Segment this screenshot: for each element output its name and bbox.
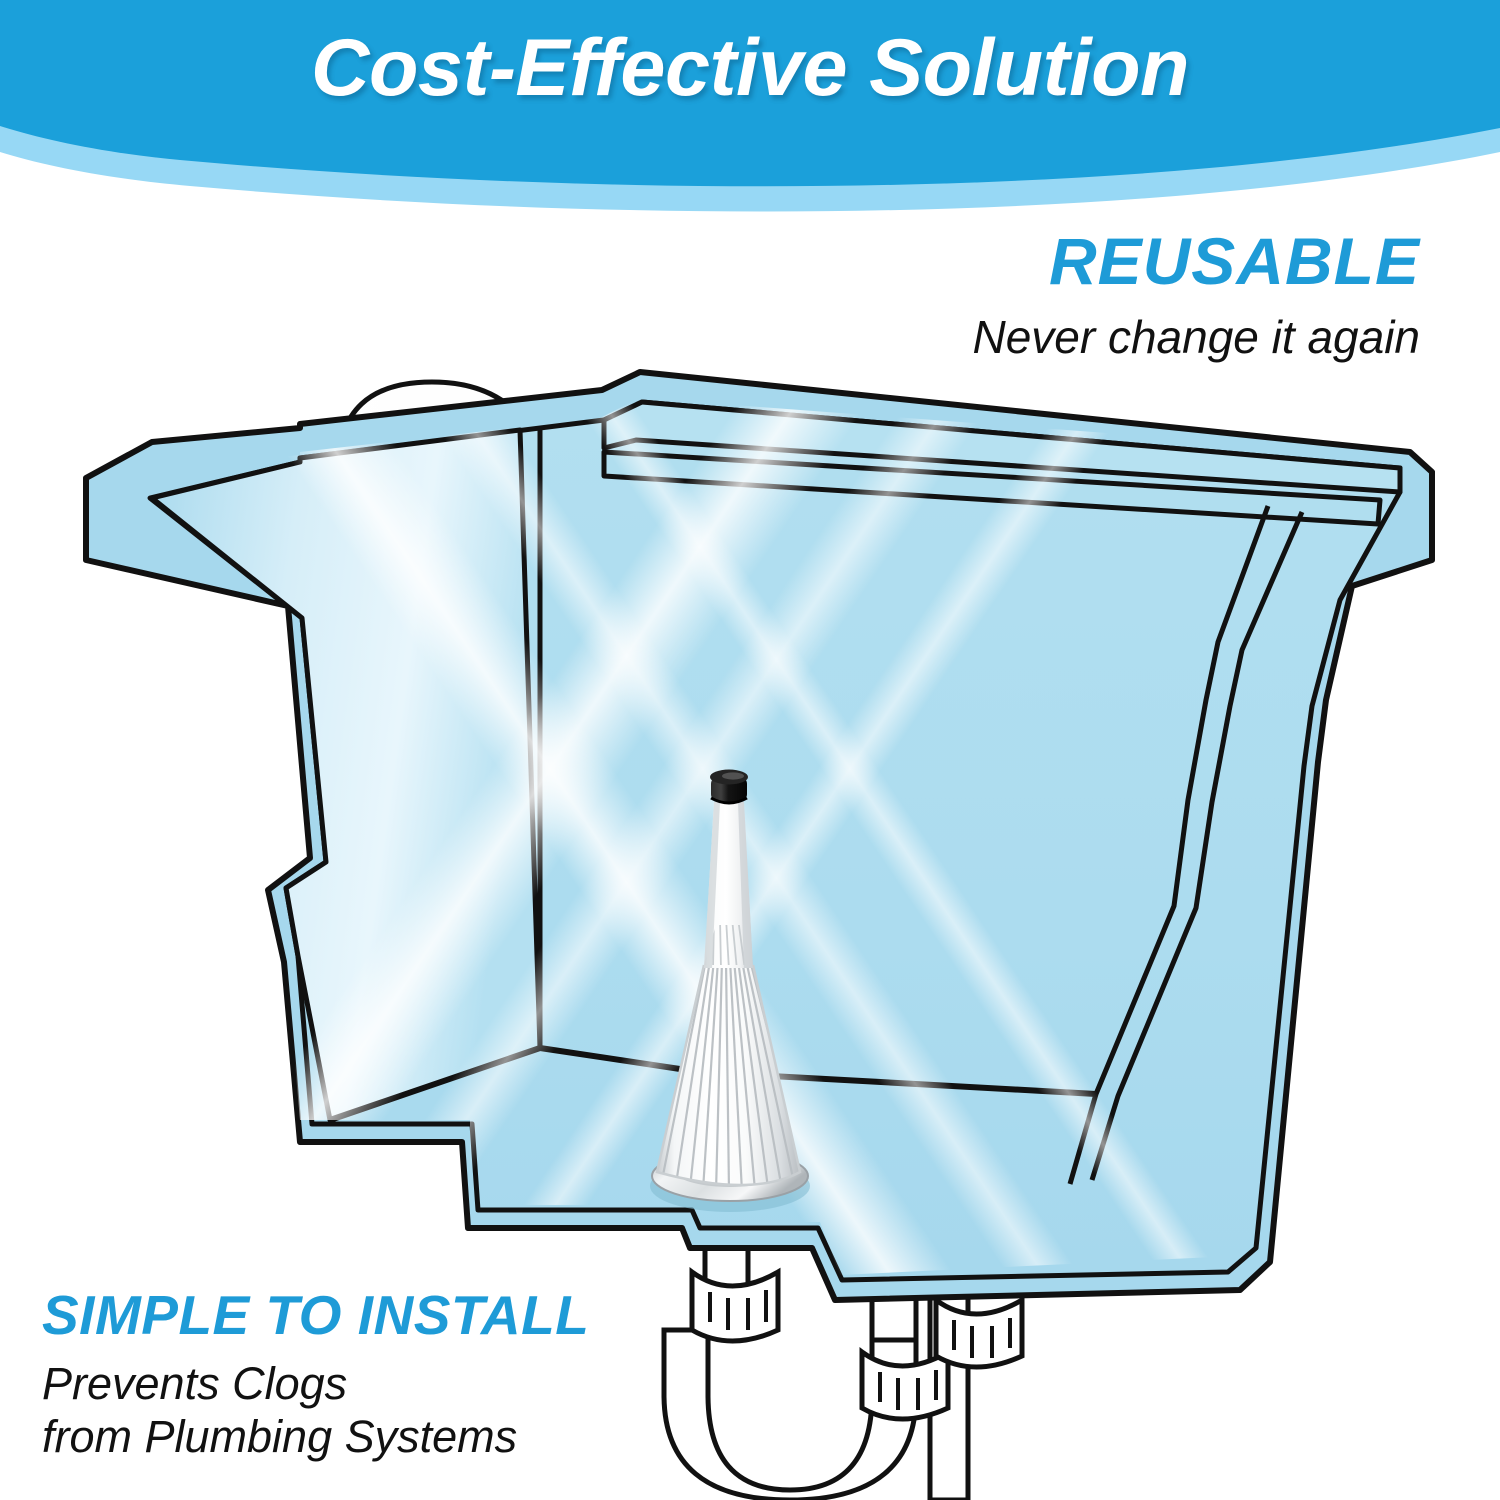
sink-back-rim-inner-line: [604, 452, 1380, 524]
sink-outer-shell: [86, 372, 1432, 1300]
filter-stem-right-shade: [738, 802, 753, 968]
drain-ring-opening: [674, 1153, 786, 1187]
sink-back-rim: [604, 402, 1400, 492]
tailpiece-pipe: [705, 1215, 748, 1290]
coupling-nut: [692, 1272, 778, 1341]
callout-install-heading: SIMPLE TO INSTALL: [42, 1288, 589, 1343]
drain-ring-shadow: [650, 1160, 810, 1212]
sink-right-wall-ridge-2: [1070, 506, 1268, 1184]
faucet-spout: [338, 382, 592, 672]
callout-install-subtext-line2: from Plumbing Systems: [42, 1410, 589, 1463]
drain-assembly: [650, 770, 810, 1213]
filter-cap-bottom-edge: [711, 798, 747, 803]
coupling-nut: [936, 1300, 1022, 1367]
plumbing-assembly: [664, 1215, 1022, 1500]
infographic-page: Cost-Effective Solution REUSABLE Never c…: [0, 0, 1500, 1500]
filter-cap-gloss: [722, 772, 744, 779]
filter-stem-left-shade: [704, 802, 720, 968]
sink-basin: [86, 202, 1432, 1443]
callout-reusable-heading: REUSABLE: [972, 228, 1420, 294]
callout-simple-to-install: SIMPLE TO INSTALL Prevents Clogs from Pl…: [42, 1288, 589, 1463]
p-trap-pipe: [664, 1330, 916, 1500]
sink-right-wall-ridge: [1092, 512, 1302, 1180]
filter-stem: [704, 802, 753, 968]
sink-floor-fold-left: [330, 1048, 700, 1120]
cone-filter-edge: [657, 965, 800, 1185]
filter-stem-ribs: [705, 918, 745, 970]
drain-pipe-right: [930, 1268, 968, 1500]
coupling-nut: [862, 1352, 948, 1419]
faucet-outlet: [536, 647, 596, 684]
sink-left-wall: [152, 430, 540, 1120]
header-banner: Cost-Effective Solution: [0, 0, 1500, 230]
page-title: Cost-Effective Solution: [0, 26, 1500, 111]
sink-floor-fold-right: [700, 1072, 1096, 1094]
trap-elbow-pipe: [872, 1268, 916, 1340]
callout-reusable: REUSABLE Never change it again: [972, 228, 1420, 364]
cone-filter-ribs: [662, 960, 803, 1192]
basin-light-streaks: [203, 202, 1214, 1443]
faucet: [338, 382, 596, 685]
callout-install-subtext: Prevents Clogs from Plumbing Systems: [42, 1357, 589, 1463]
cone-filter-body: [657, 965, 800, 1185]
drain-ring: [652, 1151, 808, 1201]
callout-reusable-subtext: Never change it again: [972, 310, 1420, 364]
sink-inner-basin: [150, 402, 1400, 1280]
filter-cap-body: [711, 776, 747, 802]
filter-cap-top: [710, 770, 748, 785]
callout-install-subtext-line1: Prevents Clogs: [42, 1357, 589, 1410]
